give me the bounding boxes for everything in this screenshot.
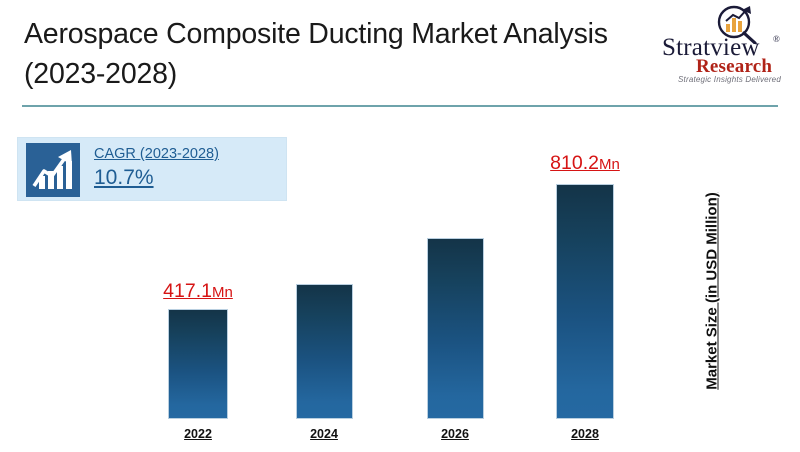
bar-2028 [556,184,614,419]
bar-value-number-2028: 810.2 [550,152,599,174]
bar-value-suffix-2028: Mn [599,156,620,173]
bar-value-2022: 417.1Mn [138,280,258,303]
bar-value-number-2022: 417.1 [163,280,212,302]
y-axis-title: Market Size (in USD Million) [700,160,724,422]
y-axis-title-label: Market Size (in USD Million) [704,192,721,390]
bar-category-2028: 2028 [535,427,635,441]
bar-2022 [168,309,228,419]
market-infographic: Aerospace Composite Ducting Market Analy… [0,0,800,452]
bar-value-2028: 810.2Mn [525,152,645,175]
bar-category-2022: 2022 [148,427,248,441]
bar-value-suffix-2022: Mn [212,284,233,301]
bar-category-2026: 2026 [405,427,505,441]
bar-chart: 417.1Mn 2022 2024 2026 810.2Mn 2028 Mark… [0,0,800,452]
bar-category-2024: 2024 [274,427,374,441]
bar-2024 [296,284,353,419]
bar-2026 [427,238,484,419]
